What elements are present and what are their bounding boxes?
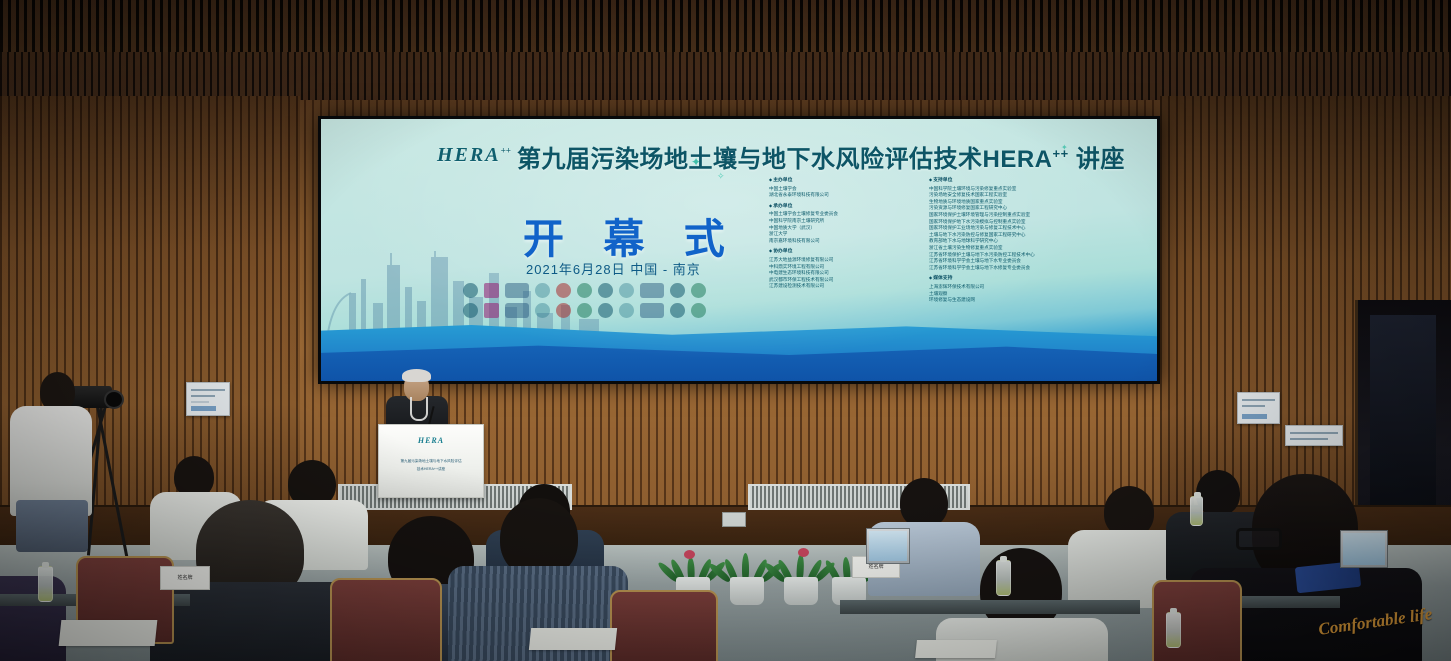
audience-torso (0, 576, 66, 661)
organiser-entry: 浙江省土壤污染生物修复重点实验室 (929, 245, 1157, 252)
name-card: 姓名牌 (160, 566, 210, 590)
organiser-column-right: 支持单位中国科学院土壤环境与污染修复重点实验室污染场地安全修复技术国家工程实验室… (929, 177, 1157, 304)
organiser-entry: 污染场地安全修复技术国家工程实验室 (929, 192, 1157, 199)
logo-17-icon (577, 303, 592, 318)
logo-14-icon (505, 303, 529, 318)
screen-main-title: 第九届污染场地土壤与地下水风险评估技术HERA++ 讲座 (517, 139, 1145, 174)
podium-line-2: 技术HERA++讲座 (385, 467, 477, 472)
organiser-section-heading: 承办单位 (769, 203, 924, 211)
organiser-entry: 江苏大地益源环境修复有限公司 (769, 257, 924, 264)
water-bottle[interactable] (1166, 612, 1181, 648)
logo-2-icon (484, 283, 499, 298)
sponsor-logo-grid (463, 283, 723, 323)
laptop-screen (1343, 533, 1385, 565)
laptop[interactable] (1340, 530, 1388, 568)
logo-4-icon (535, 283, 550, 298)
organiser-entry: 浙江大学 (769, 231, 924, 238)
logo-16-icon (556, 303, 571, 318)
organiser-entry: 国家环境保护工业场地污染与修复工程技术中心 (929, 225, 1157, 232)
logo-18-icon (598, 303, 613, 318)
organiser-section-heading: 媒体支持 (929, 275, 1157, 283)
organiser-entry: 江苏省环境科学学会土壤与地下水专业委员会 (929, 258, 1157, 265)
logo-1-icon (463, 283, 478, 298)
water-bottle[interactable] (38, 566, 53, 602)
logo-9-icon (640, 283, 664, 298)
banquet-chair[interactable] (330, 578, 442, 661)
organiser-entry: 江苏省环境科学学会土壤与地下水修复专业委员会 (929, 265, 1157, 272)
organiser-entry: 教育部地下水与地球科学研究中心 (929, 238, 1157, 245)
laptop[interactable] (866, 528, 910, 564)
logo-15-icon (535, 303, 550, 318)
speaker-hair (402, 369, 431, 382)
organiser-entry: 污染资源与环境修复国家工程研究中心 (929, 205, 1157, 212)
logo-22-icon (691, 303, 706, 318)
organiser-entry: 中电建生态环境科技有限公司 (769, 270, 924, 277)
organiser-entry: 环境修复与生态建设网 (929, 297, 1157, 304)
hera-logo: HERA++ (437, 144, 511, 167)
organiser-section-heading: 主办单位 (769, 177, 924, 185)
organiser-entry: 中国地质大学（武汉） (769, 225, 924, 232)
organiser-section-heading: 支持单位 (929, 177, 1157, 185)
podium: HERA 第九届污染场地土壤与地下水风险评估 技术HERA++讲座 (378, 424, 484, 498)
laptop-screen (869, 531, 907, 561)
cameraman-jeans (16, 500, 88, 552)
organiser-section-heading: 协办单位 (769, 248, 924, 256)
plant-pot (784, 577, 818, 605)
handout-paper[interactable] (59, 620, 158, 646)
water-bottle[interactable] (996, 560, 1011, 596)
handout-paper[interactable] (915, 640, 997, 658)
logo-10-icon (670, 283, 685, 298)
sponsor-logo-row (463, 303, 723, 318)
logo-19-icon (619, 303, 634, 318)
organiser-entry: 南京嘉环境科技有限公司 (769, 238, 924, 245)
audience-head (900, 478, 948, 528)
projection-screen: ✦ ✧ ✦ HERA++ 第九届污染场地土壤与地下水风险评估技术HERA++ 讲… (318, 116, 1160, 384)
screen-surface: ✦ ✧ ✦ HERA++ 第九届污染场地土壤与地下水风险评估技术HERA++ 讲… (321, 119, 1157, 381)
organiser-entry: 湖北省永泰环境科技有限公司 (769, 192, 924, 199)
organiser-entry: 中国科学院南京土壤研究所 (769, 218, 924, 225)
ceiling-slats (0, 0, 1451, 52)
logo-8-icon (619, 283, 634, 298)
podium-hera-logo: HERA (379, 436, 483, 445)
sponsor-logo-row (463, 283, 723, 298)
notice-sign-right-1 (1237, 392, 1280, 424)
logo-3-icon (505, 283, 529, 298)
logo-6-icon (577, 283, 592, 298)
organiser-entry: 江苏建设检测技术有限公司 (769, 283, 924, 290)
camera-lens-icon (104, 390, 124, 409)
organiser-entry: 中国土壤学会土壤修复专业委员会 (769, 211, 924, 218)
logo-7-icon (598, 283, 613, 298)
eyeglasses-icon (1236, 528, 1282, 550)
water-bottle[interactable] (1190, 496, 1203, 526)
organiser-entry: 上海澎辉环保技术有限公司 (929, 284, 1157, 291)
podium-line-1: 第九届污染场地土壤与地下水风险评估 (385, 459, 477, 464)
logo-13-icon (484, 303, 499, 318)
ceremony-date: 2021年6月28日 中国 - 南京 (526, 259, 701, 278)
logo-20-icon (640, 303, 664, 318)
banquet-chair[interactable] (610, 590, 718, 661)
logo-12-icon (463, 303, 478, 318)
wall-switch-plate[interactable] (722, 512, 746, 527)
notice-sign-right-2 (1285, 425, 1343, 446)
conference-hall-scene: ✦ ✧ ✦ HERA++ 第九届污染场地土壤与地下水风险评估技术HERA++ 讲… (0, 0, 1451, 661)
ceremony-title: 开 幕 式 (523, 205, 739, 265)
plant-pot (730, 577, 764, 605)
speaker-lanyard (410, 397, 428, 421)
logo-5-icon (556, 283, 571, 298)
exit-sign-left (186, 382, 230, 416)
handout-paper[interactable] (529, 628, 617, 650)
organiser-column-left: 主办单位中国土壤学会湖北省永泰环境科技有限公司承办单位中国土壤学会土壤修复专业委… (769, 177, 924, 290)
doorway-interior (1370, 315, 1436, 530)
logo-11-icon (691, 283, 706, 298)
audience-table (840, 600, 1140, 614)
organiser-entry: 国家环境保护土壤环境管理与污染控制重点实验室 (929, 212, 1157, 219)
logo-21-icon (670, 303, 685, 318)
